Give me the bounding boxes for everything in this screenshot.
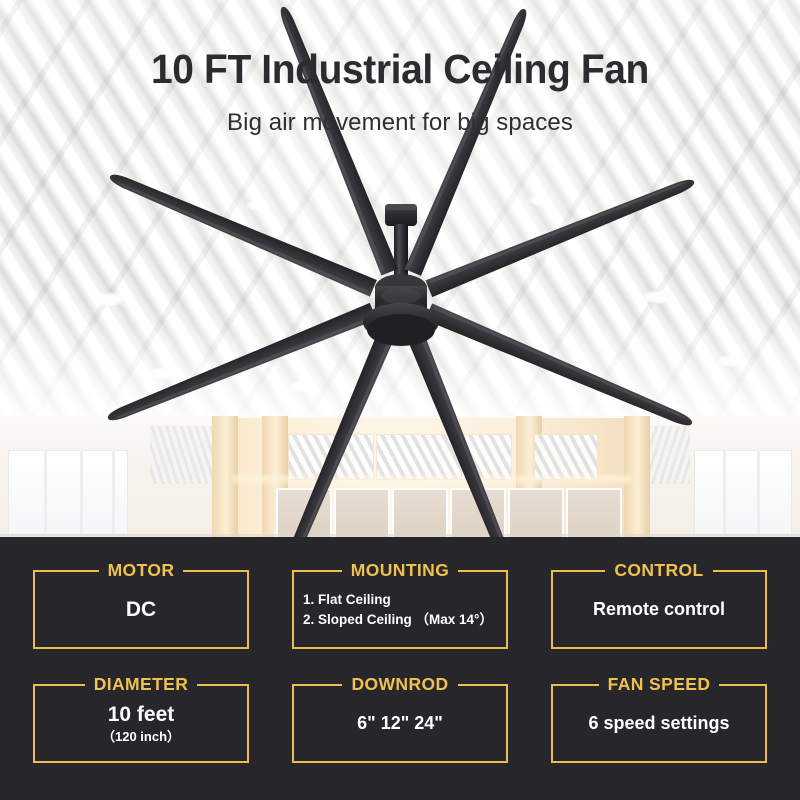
spec-caption-diameter: DIAMETER (85, 673, 198, 695)
clerestory-glass (376, 434, 462, 480)
spec-card-fan-speed: FAN SPEED 6 speed settings (551, 673, 767, 763)
clerestory-glass (534, 434, 598, 480)
spec-value-mounting-line2: 2. Sloped Ceiling （Max 14°） (303, 610, 493, 630)
spec-value-fan-speed: 6 speed settings (588, 712, 729, 735)
window-mullion (723, 450, 726, 534)
product-infographic: 10 FT Industrial Ceiling Fan Big air mov… (0, 0, 800, 800)
side-window-left (8, 450, 128, 536)
page-title: 10 FT Industrial Ceiling Fan (20, 46, 780, 93)
spec-value-diameter: 10 feet (108, 702, 175, 727)
spec-caption-motor: MOTOR (99, 559, 184, 581)
spec-caption-wrap: CONTROL (551, 559, 767, 581)
window-mullion (757, 450, 760, 534)
spec-row-2: DIAMETER 10 feet （120 inch） DOWNROD 6" 1… (0, 673, 800, 787)
spec-body-downrod: 6" 12" 24" (292, 684, 508, 763)
wall-panel (276, 488, 332, 538)
wall-panel (334, 488, 390, 538)
page-subtitle: Big air movement for big spaces (0, 109, 800, 137)
wall-panel (392, 488, 448, 538)
wall-panel (508, 488, 564, 538)
spec-value-motor: DC (126, 597, 156, 622)
spec-body-motor: DC (33, 570, 249, 649)
spec-value-mounting-line1: 1. Flat Ceiling (303, 590, 391, 610)
spec-value-control: Remote control (593, 598, 725, 621)
spec-caption-wrap: DOWNROD (292, 673, 508, 695)
spec-panel: MOTOR DC MOUNTING 1. Flat Ceiling 2. Slo… (0, 537, 800, 800)
window-mullion (112, 450, 115, 534)
side-window-right (694, 450, 792, 536)
spec-body-fan-speed: 6 speed settings (551, 684, 767, 763)
clerestory-glass (288, 434, 374, 480)
spec-card-downrod: DOWNROD 6" 12" 24" (292, 673, 508, 763)
spec-value-diameter-inches: （120 inch） (102, 728, 180, 746)
spec-card-control: CONTROL Remote control (551, 559, 767, 649)
spec-body-control: Remote control (551, 570, 767, 649)
window-mullion (44, 450, 47, 534)
spec-caption-wrap: DIAMETER (33, 673, 249, 695)
spec-caption-fan-speed: FAN SPEED (599, 673, 720, 695)
spec-body-diameter: 10 feet （120 inch） (33, 684, 249, 763)
spec-caption-wrap: FAN SPEED (551, 673, 767, 695)
spec-caption-wrap: MOTOR (33, 559, 249, 581)
spec-caption-mounting: MOUNTING (342, 559, 458, 581)
spec-row-1: MOTOR DC MOUNTING 1. Flat Ceiling 2. Slo… (0, 559, 800, 673)
spec-caption-wrap: MOUNTING (292, 559, 508, 581)
spec-body-mounting: 1. Flat Ceiling 2. Sloped Ceiling （Max 1… (292, 570, 508, 649)
spec-card-motor: MOTOR DC (33, 559, 249, 649)
wall-panel (566, 488, 622, 538)
interior-background (0, 416, 800, 540)
spec-card-diameter: DIAMETER 10 feet （120 inch） (33, 673, 249, 763)
window-mullion (80, 450, 83, 534)
spec-value-downrod: 6" 12" 24" (357, 712, 443, 735)
spec-card-mounting: MOUNTING 1. Flat Ceiling 2. Sloped Ceili… (292, 559, 508, 649)
wall-panel (450, 488, 506, 538)
spec-caption-control: CONTROL (605, 559, 712, 581)
product-photo: 10 FT Industrial Ceiling Fan Big air mov… (0, 0, 800, 540)
glass-underglow (232, 476, 632, 486)
spec-caption-downrod: DOWNROD (342, 673, 457, 695)
clerestory-glass (464, 434, 512, 480)
